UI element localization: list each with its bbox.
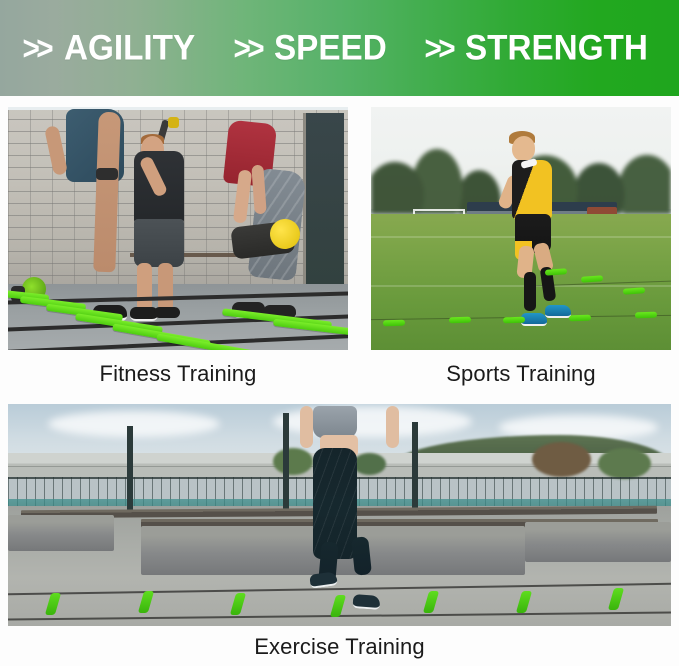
sky-strip bbox=[8, 107, 348, 110]
bleacher-concrete-base bbox=[8, 515, 114, 551]
ladder-rung bbox=[569, 314, 591, 321]
runner-calf-back bbox=[351, 536, 372, 575]
tree bbox=[273, 448, 313, 475]
photo-sports-training bbox=[371, 107, 671, 350]
caption-cell-sports: Sports Training bbox=[371, 352, 671, 396]
ladder-rung bbox=[449, 317, 471, 324]
banner-item-agility: >> AGILITY bbox=[21, 31, 202, 66]
banner-word-strength: STRENGTH bbox=[465, 31, 648, 66]
runner-sports-bra bbox=[313, 406, 357, 438]
bar-yellow-grip bbox=[168, 117, 179, 128]
double-chevron-right-icon: >> bbox=[424, 32, 451, 65]
athlete-middle-shorts bbox=[134, 219, 184, 268]
banner-text-row: >> AGILITY >> SPEED >> STRENGTH bbox=[0, 31, 679, 66]
boy-cleat-back bbox=[545, 305, 571, 318]
ladder-rung bbox=[545, 268, 567, 276]
light-post bbox=[127, 426, 133, 510]
bottom-caption-row: Exercise Training bbox=[8, 628, 671, 666]
caption-exercise-training: Exercise Training bbox=[254, 634, 424, 660]
boy-jersey bbox=[512, 160, 552, 218]
photo-fitness-training bbox=[8, 107, 348, 350]
double-chevron-right-icon: >> bbox=[233, 32, 260, 65]
top-photo-row bbox=[8, 107, 671, 350]
light-post bbox=[283, 413, 289, 511]
banner-item-speed: >> SPEED bbox=[232, 31, 393, 66]
light-post bbox=[412, 422, 418, 511]
caption-cell-fitness: Fitness Training bbox=[8, 352, 348, 396]
agility-ladder-fitness bbox=[8, 284, 348, 350]
tree bbox=[353, 453, 386, 475]
ladder-rung bbox=[503, 317, 525, 324]
bleacher-concrete-base bbox=[525, 522, 671, 562]
athlete-left-knee-brace bbox=[96, 168, 118, 180]
banner-word-speed: SPEED bbox=[274, 31, 387, 66]
double-chevron-right-icon: >> bbox=[23, 32, 50, 65]
top-caption-row: Fitness Training Sports Training bbox=[8, 352, 671, 396]
banner-word-agility: AGILITY bbox=[64, 31, 195, 66]
caption-fitness-training: Fitness Training bbox=[100, 361, 257, 387]
ladder-rung bbox=[383, 319, 405, 326]
mow-line bbox=[371, 285, 671, 287]
runner-arm-left bbox=[300, 406, 313, 448]
banner-item-strength: >> STRENGTH bbox=[423, 31, 658, 66]
cloud bbox=[48, 411, 220, 438]
caption-sports-training: Sports Training bbox=[446, 361, 595, 387]
boy-sock-front bbox=[524, 272, 536, 311]
runner-shoe-back bbox=[352, 594, 380, 610]
metal-door bbox=[303, 113, 344, 286]
photo-exercise-training bbox=[8, 404, 671, 626]
runner-arm-right bbox=[386, 406, 399, 448]
promo-banner: >> AGILITY >> SPEED >> STRENGTH bbox=[0, 0, 679, 96]
boy-head bbox=[512, 136, 535, 161]
